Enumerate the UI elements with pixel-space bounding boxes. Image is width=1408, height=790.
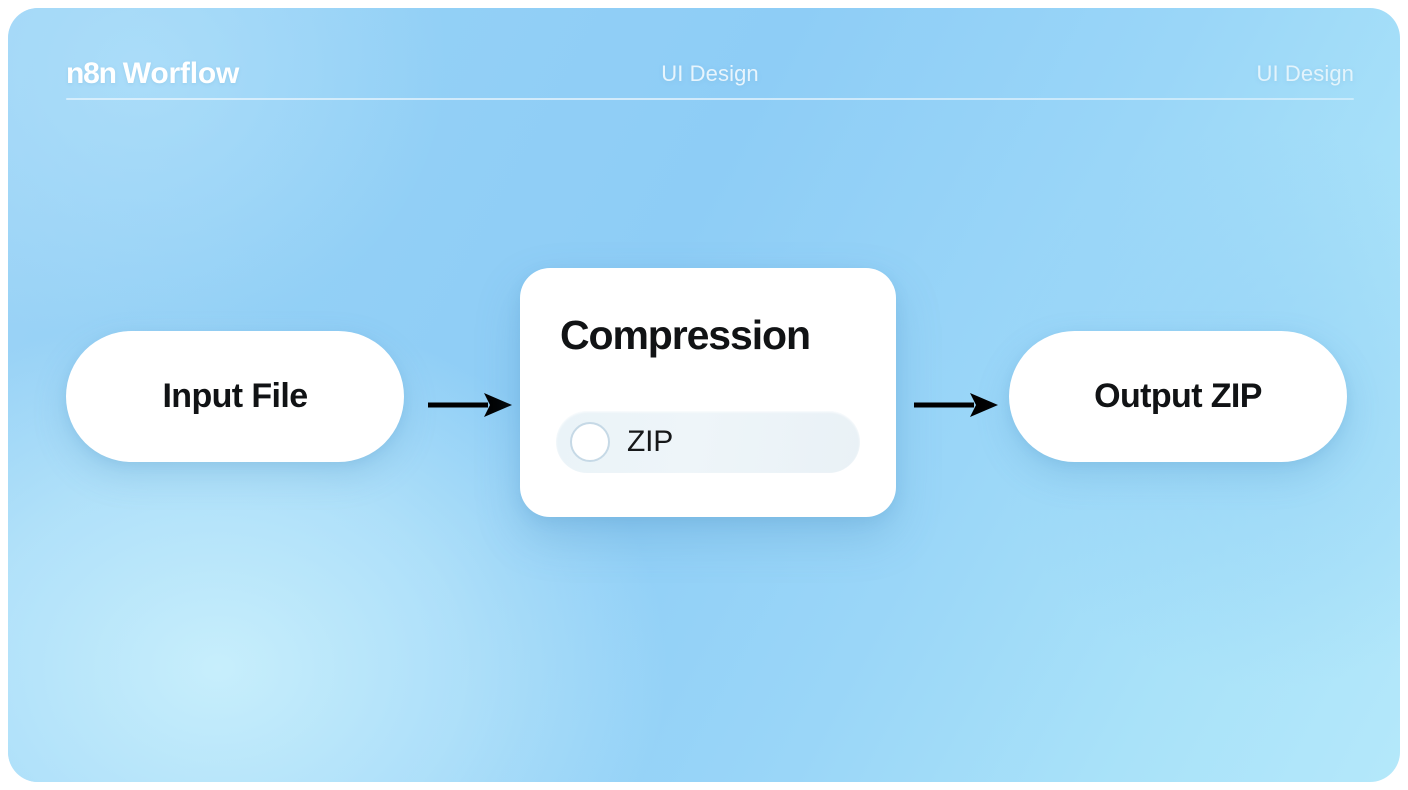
- node-output-zip-label: Output ZIP: [1094, 377, 1262, 416]
- compression-title: Compression: [560, 312, 810, 359]
- node-input-file[interactable]: Input File: [66, 331, 404, 462]
- node-compression-card[interactable]: Compression ZIP: [520, 268, 896, 517]
- workflow-diagram: Input File Compression ZIP Output ZIP: [8, 8, 1400, 782]
- compression-option-zip-label: ZIP: [627, 425, 673, 459]
- arrow-input-to-compression-icon: [426, 389, 512, 421]
- node-output-zip[interactable]: Output ZIP: [1009, 331, 1347, 462]
- slide-canvas: n8nWorflow UI Design UI Design Input Fil…: [8, 8, 1400, 782]
- compression-option-zip[interactable]: ZIP: [556, 411, 860, 473]
- node-input-file-label: Input File: [162, 377, 307, 416]
- arrow-compression-to-output-icon: [912, 389, 998, 421]
- radio-button-icon[interactable]: [570, 422, 610, 462]
